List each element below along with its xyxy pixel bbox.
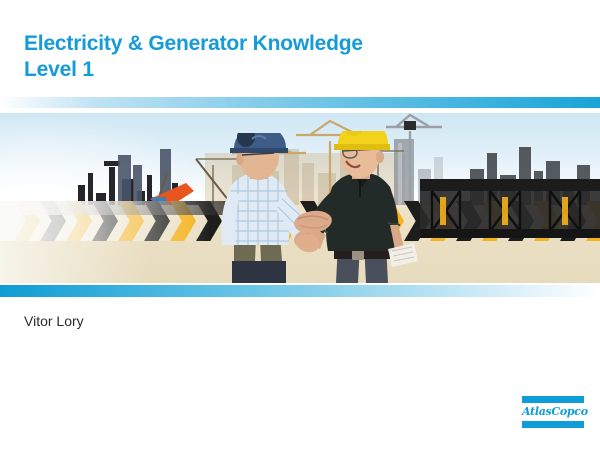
- presentation-slide: Electricity & Generator Knowledge Level …: [0, 0, 600, 450]
- logo-bar-bottom: [522, 421, 584, 428]
- page-title: Electricity & Generator Knowledge Level …: [24, 31, 544, 83]
- banner-image: [0, 97, 600, 297]
- title-line-1: Electricity & Generator Knowledge: [24, 31, 544, 57]
- banner-top-rule: [0, 97, 600, 108]
- title-line-2: Level 1: [24, 57, 544, 83]
- atlas-copco-logo: AtlasCopco: [522, 396, 584, 428]
- crane-counterweight: [404, 121, 416, 130]
- handshake: [292, 207, 334, 237]
- logo-wordmark: AtlasCopco: [522, 404, 584, 420]
- author-name: Vitor Lory: [24, 312, 84, 330]
- steel-frame-structure: [420, 175, 600, 247]
- banner-bottom-rule: [0, 285, 600, 297]
- banner-photo-collage: [0, 113, 600, 283]
- logo-bar-top: [522, 396, 584, 403]
- chevron-left-fade: [0, 201, 210, 241]
